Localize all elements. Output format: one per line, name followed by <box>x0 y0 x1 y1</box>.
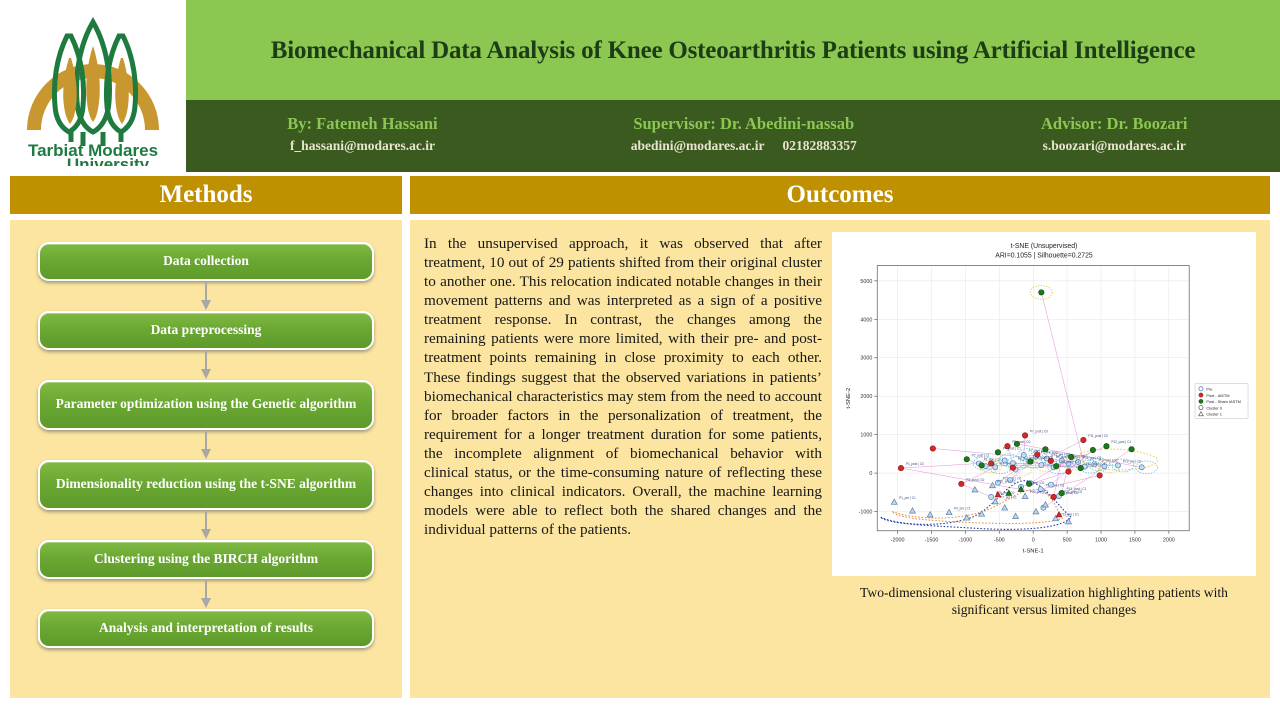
svg-text:-1500: -1500 <box>925 538 939 544</box>
advisor-email[interactable]: s.boozari@modares.ac.ir <box>959 137 1270 155</box>
outcomes-panel: In the unsupervised approach, it was obs… <box>410 220 1270 698</box>
figure-caption: Two-dimensional clustering visualization… <box>844 584 1244 619</box>
flow-arrow-icon <box>199 350 213 380</box>
flow-arrow-icon <box>199 430 213 460</box>
section-heading-methods: Methods <box>10 176 402 214</box>
svg-text:2000: 2000 <box>1163 538 1175 544</box>
flow-arrow-icon <box>199 579 213 609</box>
svg-text:-1000: -1000 <box>859 510 873 516</box>
svg-text:5000: 5000 <box>860 279 872 285</box>
flow-step-tsne-reduction: Dimensionality reduction using the t-SNE… <box>38 460 374 510</box>
presenter-email[interactable]: f_hassani@modares.ac.ir <box>196 137 529 155</box>
svg-text:P1_pre | C1: P1_pre | C1 <box>899 496 916 500</box>
svg-text:P12_post | C1: P12_post | C1 <box>1111 440 1131 444</box>
university-logo-icon: Tarbiat Modares University <box>13 6 173 166</box>
svg-text:Pre: Pre <box>1206 387 1212 392</box>
flow-step-data-collection: Data collection <box>38 242 374 281</box>
authors-bar: By: Fatemeh Hassani f_hassani@modares.ac… <box>186 100 1280 172</box>
svg-text:P16_pre | C1: P16_pre | C1 <box>997 479 1016 483</box>
svg-text:P2_post | C1: P2_post | C1 <box>972 453 990 457</box>
svg-text:P6_post | C1: P6_post | C1 <box>1035 456 1053 460</box>
svg-text:P7_pre | C1: P7_pre | C1 <box>1000 496 1017 500</box>
svg-text:2000: 2000 <box>860 394 872 400</box>
figure-block: t-SNE (Unsupervised)ARI=0.1055 | Silhoue… <box>832 232 1256 688</box>
header-right: Biomechanical Data Analysis of Knee Oste… <box>186 0 1280 172</box>
svg-text:P10_pre | C1: P10_pre | C1 <box>1030 490 1049 494</box>
author-block-presenter: By: Fatemeh Hassani f_hassani@modares.ac… <box>196 113 529 155</box>
advisor-name: Advisor: Dr. Boozari <box>959 113 1270 135</box>
flow-step-genetic-algorithm: Parameter optimization using the Genetic… <box>38 380 374 430</box>
supervisor-contact: abedini@modares.ac.ir02182883357 <box>529 137 959 155</box>
svg-text:P4_pre | C1: P4_pre | C1 <box>954 506 971 510</box>
svg-text:-500: -500 <box>994 538 1005 544</box>
tsne-scatter-chart: t-SNE (Unsupervised)ARI=0.1055 | Silhoue… <box>838 236 1250 574</box>
university-logo: Tarbiat Modares University <box>0 0 186 172</box>
svg-text:Cluster 0: Cluster 0 <box>1206 405 1222 410</box>
svg-text:P1_post | C0: P1_post | C0 <box>906 462 924 466</box>
svg-text:-1000: -1000 <box>959 538 973 544</box>
svg-text:t-SNE-1: t-SNE-1 <box>1023 548 1044 554</box>
supervisor-phone: 02182883357 <box>783 138 857 153</box>
svg-text:1000: 1000 <box>860 433 872 439</box>
flow-step-birch-clustering: Clustering using the BIRCH algorithm <box>38 540 374 579</box>
outcomes-paragraph: In the unsupervised approach, it was obs… <box>424 234 822 539</box>
svg-text:t-SNE (Unsupervised): t-SNE (Unsupervised) <box>1011 243 1078 250</box>
svg-text:P7_post | C0: P7_post | C0 <box>1030 429 1048 433</box>
svg-text:500: 500 <box>1063 538 1072 544</box>
poster-title: Biomechanical Data Analysis of Knee Oste… <box>271 36 1196 65</box>
poster-header: Tarbiat Modares University Biomechanical… <box>0 0 1280 172</box>
logo-line2: University <box>67 155 150 166</box>
section-heading-outcomes: Outcomes <box>410 176 1270 214</box>
presenter-name: By: Fatemeh Hassani <box>196 113 529 135</box>
svg-text:0: 0 <box>1032 538 1035 544</box>
methods-flowchart: Data collection Data preprocessing Param… <box>26 242 386 648</box>
svg-text:P10_post | C1: P10_post | C1 <box>1086 462 1106 466</box>
svg-text:P19_pre | C0: P19_pre | C0 <box>1123 459 1142 463</box>
section-heading-row: Methods Outcomes <box>0 176 1280 214</box>
svg-text:P14_post | C1: P14_post | C1 <box>1067 487 1087 491</box>
svg-text:1500: 1500 <box>1129 538 1141 544</box>
svg-text:P8_post | C1: P8_post | C1 <box>1061 460 1079 464</box>
flow-step-data-preprocessing: Data preprocessing <box>38 311 374 350</box>
svg-text:ARI=0.1055 | Silhouette=0.2725: ARI=0.1055 | Silhouette=0.2725 <box>995 253 1093 260</box>
poster-body: Data collection Data preprocessing Param… <box>0 214 1280 706</box>
svg-text:1000: 1000 <box>1095 538 1107 544</box>
svg-text:Post - IASTM: Post - IASTM <box>1206 393 1229 398</box>
svg-text:3000: 3000 <box>860 356 872 362</box>
tsne-chart-card: t-SNE (Unsupervised)ARI=0.1055 | Silhoue… <box>832 232 1256 576</box>
svg-text:Cluster 1: Cluster 1 <box>1206 412 1222 417</box>
flow-arrow-icon <box>199 510 213 540</box>
svg-text:4000: 4000 <box>860 317 872 323</box>
svg-text:P3_post | C0: P3_post | C0 <box>966 478 984 482</box>
methods-panel: Data collection Data preprocessing Param… <box>10 220 402 698</box>
svg-text:t-SNE-2: t-SNE-2 <box>846 388 852 409</box>
svg-text:P11_post | C0: P11_post | C0 <box>1088 434 1108 438</box>
poster-title-bar: Biomechanical Data Analysis of Knee Oste… <box>186 0 1280 100</box>
author-block-advisor: Advisor: Dr. Boozari s.boozari@modares.a… <box>959 113 1270 155</box>
supervisor-name: Supervisor: Dr. Abedini-nassab <box>529 113 959 135</box>
svg-text:P13_pre | C1: P13_pre | C1 <box>1060 513 1079 517</box>
svg-text:Post - Sham IASTM: Post - Sham IASTM <box>1206 399 1240 404</box>
poster-root: Tarbiat Modares University Biomechanical… <box>0 0 1280 720</box>
svg-text:0: 0 <box>869 471 872 477</box>
svg-text:P4_post | C1: P4_post | C1 <box>1003 446 1021 450</box>
author-block-supervisor: Supervisor: Dr. Abedini-nassab abedini@m… <box>529 113 959 155</box>
svg-text:-2000: -2000 <box>891 538 905 544</box>
flow-step-analysis-interpretation: Analysis and interpretation of results <box>38 609 374 648</box>
flow-arrow-icon <box>199 281 213 311</box>
outcomes-body-text: In the unsupervised approach, it was obs… <box>424 232 822 688</box>
supervisor-email[interactable]: abedini@modares.ac.ir <box>631 138 765 153</box>
